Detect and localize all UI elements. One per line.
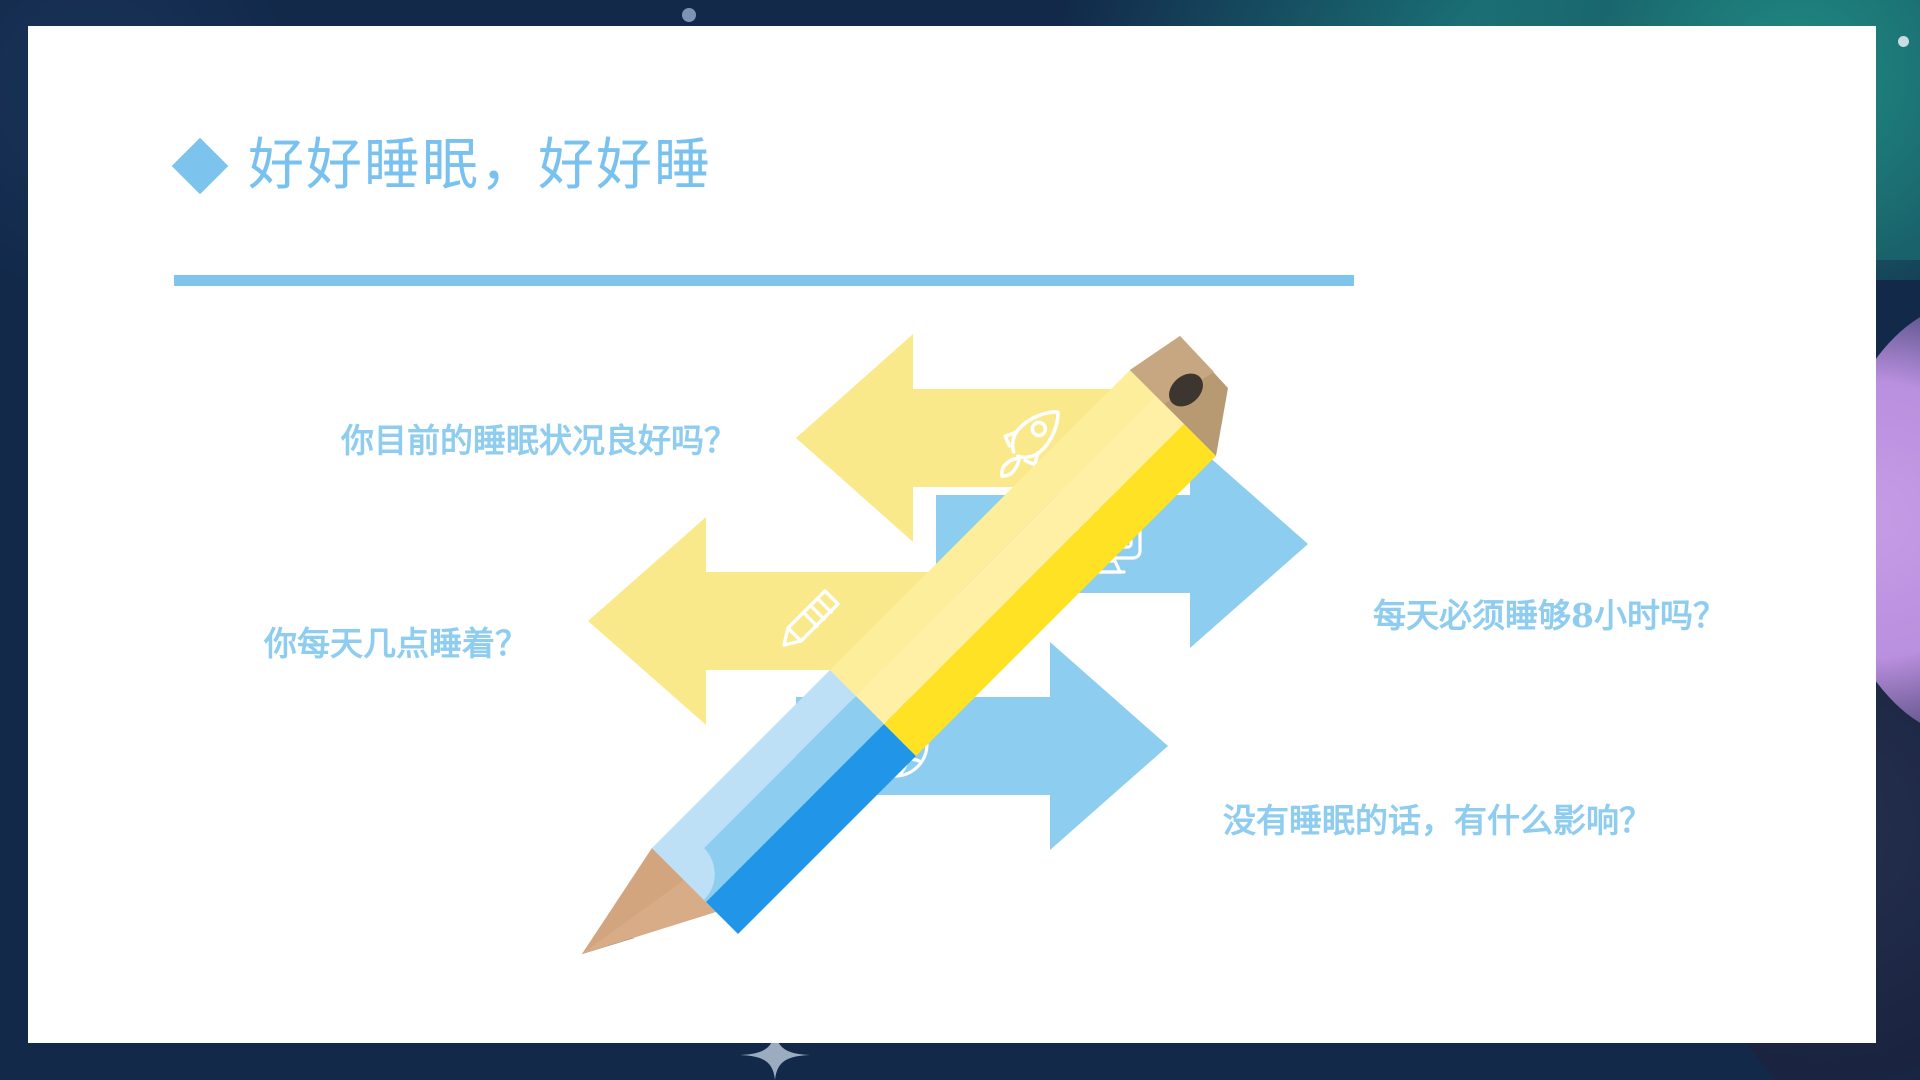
arrows-pencil-diagram — [568, 316, 1328, 966]
title-divider — [174, 275, 1354, 286]
slide-card: 好好睡眠，好好睡 你目前的睡眠状况良好吗？ 你每天几点睡着？ 每天必须睡够8小时… — [28, 26, 1876, 1043]
decor-dot-top-right — [1898, 36, 1909, 47]
page-title: 好好睡眠，好好睡 — [248, 138, 712, 194]
diamond-icon — [172, 138, 229, 195]
question-label-3: 每天必须睡够8小时吗？ — [1373, 596, 1726, 636]
slide-header: 好好睡眠，好好睡 — [180, 138, 712, 194]
slide-root: 好好睡眠，好好睡 你目前的睡眠状况良好吗？ 你每天几点睡着？ 每天必须睡够8小时… — [0, 0, 1920, 1080]
decor-dot-top — [682, 8, 696, 22]
question-label-2: 你每天几点睡着？ — [264, 624, 528, 664]
